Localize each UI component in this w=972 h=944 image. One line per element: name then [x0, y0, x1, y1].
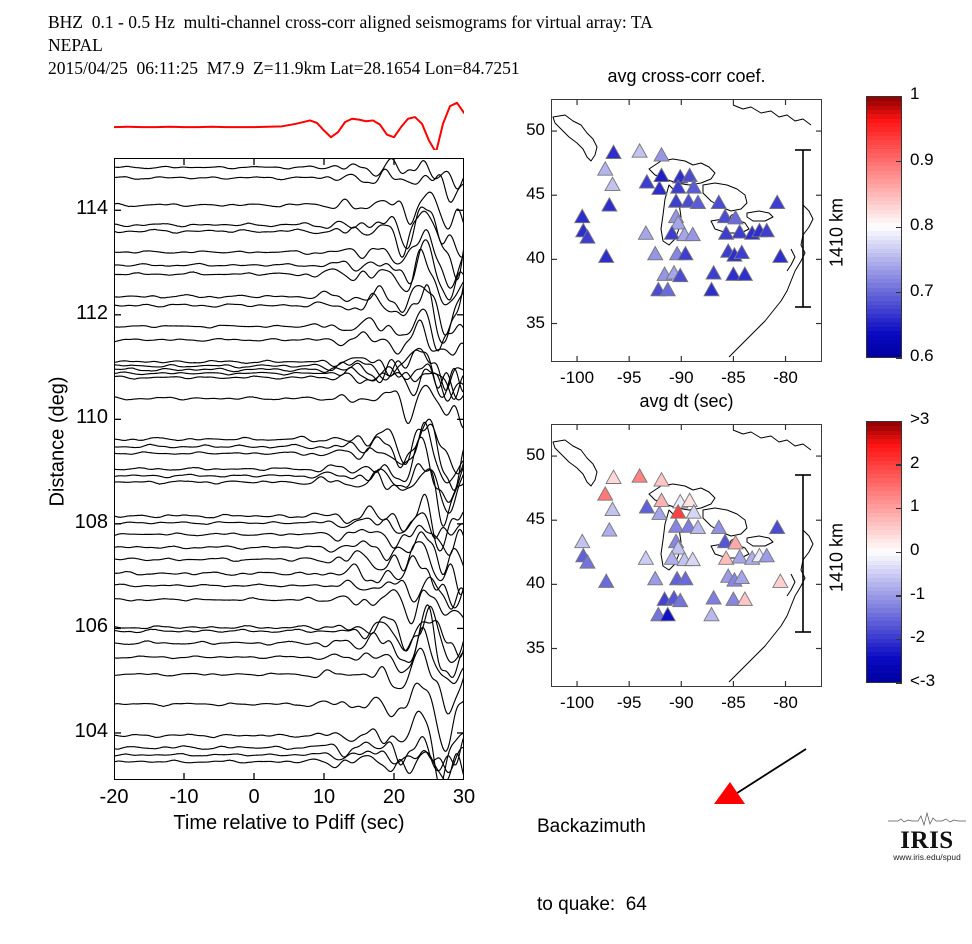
- map-top-scalebar: [794, 146, 812, 311]
- colorbar-top-label-06: 0.6: [910, 346, 970, 366]
- seismogram-traces: [114, 158, 464, 780]
- map-bottom-xtick--100: -100: [547, 693, 607, 713]
- colorbar-top-tickmark: [896, 161, 902, 162]
- colorbar-bottom-tickmark: [896, 595, 902, 596]
- map-top-ytick-50: 50: [511, 120, 545, 140]
- backazimuth-label: Backazimuth to quake: 64: [537, 762, 647, 944]
- map-top-ytick-45: 45: [511, 184, 545, 204]
- backazimuth-arrow: [700, 735, 820, 825]
- map-bottom-ytick-40: 40: [511, 573, 545, 593]
- seismogram-xtick--20: -20: [84, 786, 144, 809]
- map-bottom-ytick-45: 45: [511, 509, 545, 529]
- map-top-xtick--95: -95: [599, 368, 659, 388]
- colorbar-bottom-label--1: -1: [910, 584, 970, 604]
- reference-stack-trace: [114, 88, 464, 150]
- seismogram-xtick-30: 30: [434, 786, 494, 809]
- colorbar-top-tickmark: [896, 227, 902, 228]
- map-top-xtick--100: -100: [547, 368, 607, 388]
- seismogram-xtick-0: 0: [224, 786, 284, 809]
- seismogram-xtick--10: -10: [154, 786, 214, 809]
- colorbar-bottom-tickmark: [896, 421, 902, 422]
- map-top-scalebar-label: 1410 km: [827, 173, 848, 293]
- map-top-xtick--85: -85: [703, 368, 763, 388]
- colorbar-bottom-label-0: 0: [910, 540, 970, 560]
- colorbar-bottom-label--3: <-3: [910, 671, 970, 691]
- map-top-xtick--80: -80: [756, 368, 816, 388]
- seismogram-ytick-114: 114: [52, 197, 108, 220]
- seismogram-ytick-110: 110: [52, 406, 108, 429]
- colorbar-bottom-tickmark: [896, 508, 902, 509]
- svg-text:www.iris.edu/spud: www.iris.edu/spud: [892, 852, 961, 862]
- seismogram-x-axis-title: Time relative to Pdiff (sec): [114, 812, 464, 835]
- map-top-ytick-40: 40: [511, 248, 545, 268]
- seismogram-ytick-108: 108: [52, 511, 108, 534]
- colorbar-bottom-tickmark: [896, 683, 902, 684]
- iris-logo: IRIS www.iris.edu/spud: [884, 812, 970, 864]
- map-top-ytick-35: 35: [511, 313, 545, 333]
- colorbar-top-tickmark: [896, 358, 902, 359]
- seismogram-ytick-104: 104: [52, 720, 108, 743]
- map-bottom-xtick--95: -95: [599, 693, 659, 713]
- colorbar-top-label-08: 0.8: [910, 215, 970, 235]
- header-line-2: NEPAL: [48, 34, 948, 57]
- map-bottom-xtick--90: -90: [651, 693, 711, 713]
- map-bottom-scalebar-label: 1410 km: [827, 498, 848, 618]
- seismogram-ytick-106: 106: [52, 615, 108, 638]
- colorbar-top-label-1: 1: [910, 84, 970, 104]
- map-bottom-ytick-50: 50: [511, 445, 545, 465]
- colorbar-bottom-label-2: 2: [910, 453, 970, 473]
- colorbar-bottom-label-1: 1: [910, 496, 970, 516]
- map-bottom-markers: [551, 424, 822, 687]
- map-bottom-xtick--80: -80: [756, 693, 816, 713]
- colorbar-bottom-tickmark: [896, 552, 902, 553]
- colorbar-top-tickmark: [896, 96, 902, 97]
- map-bottom-xtick--85: -85: [703, 693, 763, 713]
- map-top-markers: [551, 99, 822, 362]
- svg-text:IRIS: IRIS: [900, 827, 953, 854]
- header-line-1: BHZ 0.1 - 0.5 Hz multi-channel cross-cor…: [48, 11, 948, 34]
- colorbar-top-tickmark: [896, 292, 902, 293]
- seismogram-ytick-112: 112: [52, 302, 108, 325]
- map-bottom-ytick-35: 35: [511, 638, 545, 658]
- seismogram-xtick-10: 10: [294, 786, 354, 809]
- colorbar-bottom-label--2: -2: [910, 627, 970, 647]
- map-top-title: avg cross-corr coef.: [551, 66, 822, 87]
- seismogram-xtick-20: 20: [364, 786, 424, 809]
- backazimuth-line-1: Backazimuth: [537, 814, 647, 840]
- colorbar-top-label-09: 0.9: [910, 150, 970, 170]
- colorbar-bottom-label-3: >3: [910, 409, 970, 429]
- colorbar-bottom-tickmark: [896, 639, 902, 640]
- map-top-xtick--90: -90: [651, 368, 711, 388]
- colorbar-top-label-07: 0.7: [910, 281, 970, 301]
- backazimuth-line-2: to quake: 64: [537, 892, 647, 918]
- map-bottom-title: avg dt (sec): [551, 391, 822, 412]
- map-bottom-scalebar: [794, 471, 812, 636]
- colorbar-bottom-tickmark: [896, 464, 902, 465]
